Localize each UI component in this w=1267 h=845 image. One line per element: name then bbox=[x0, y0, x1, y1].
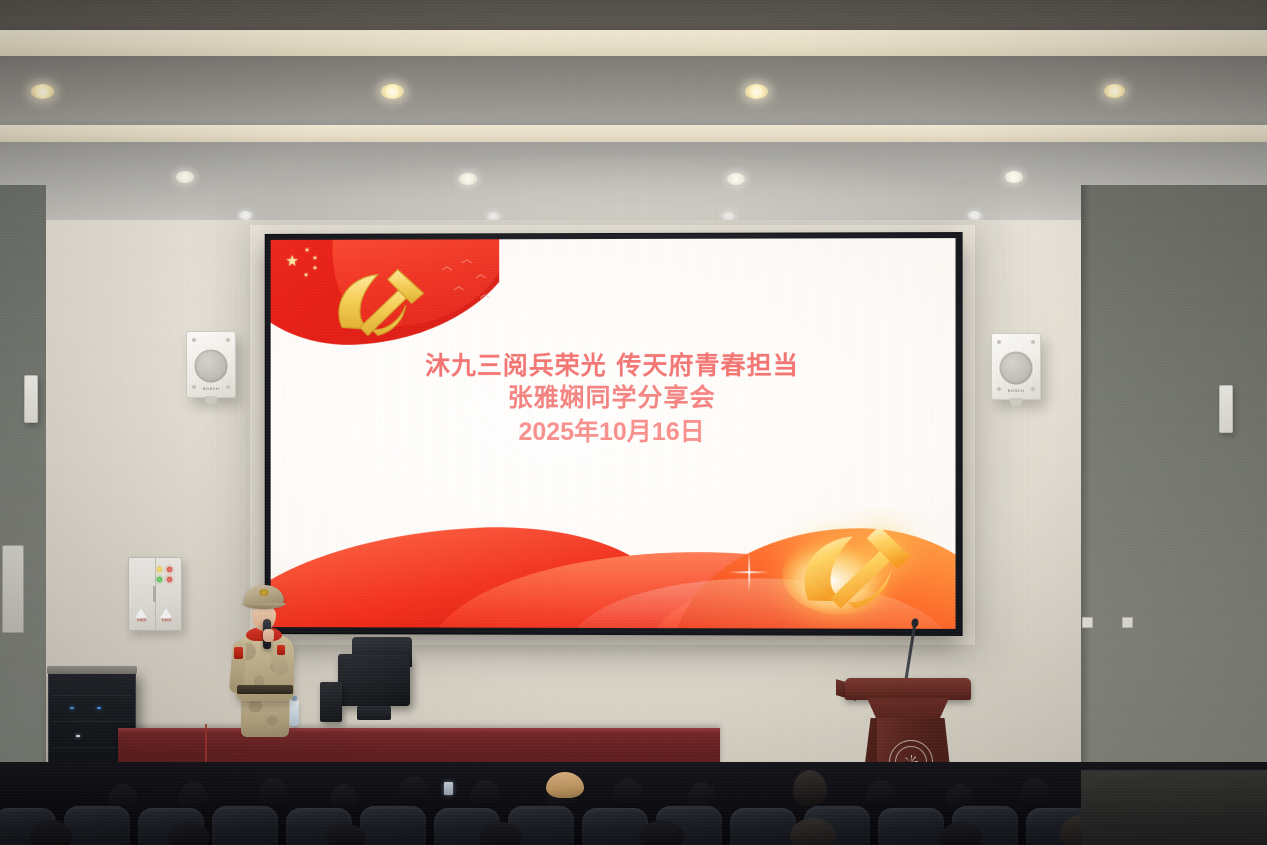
glowing-hammer-sickle-icon bbox=[778, 512, 929, 621]
wall-outlet bbox=[1122, 617, 1133, 628]
left-wall-panel bbox=[0, 185, 46, 785]
auditorium-photo: ★ ★ ★ ★ ★ bbox=[0, 0, 1267, 845]
downlight-icon bbox=[31, 84, 54, 99]
electrical-control-panel[interactable]: 有电危险 有电危险 bbox=[128, 557, 182, 631]
wall-device-right bbox=[1219, 385, 1233, 433]
audience-seat bbox=[360, 806, 426, 845]
dove-icon: ︿ bbox=[441, 261, 452, 272]
hammer-sickle-emblem-icon bbox=[316, 257, 433, 343]
audience-head bbox=[793, 770, 827, 806]
audience-seat bbox=[878, 808, 944, 845]
speaker-screw bbox=[192, 338, 196, 342]
ceiling-band-upper bbox=[0, 56, 1267, 125]
downlight-icon bbox=[968, 211, 981, 220]
audience-head bbox=[613, 778, 643, 810]
speaker-brand-label: BOSCH bbox=[1008, 388, 1024, 393]
speaker-driver bbox=[1000, 351, 1033, 384]
audience-head-with-hat bbox=[546, 772, 584, 798]
dove-icon: ︿ bbox=[453, 281, 464, 292]
flag-star-icon: ★ bbox=[304, 248, 309, 254]
presenter-shoulder-patch bbox=[277, 645, 285, 655]
hazard-label: 有电危险 bbox=[135, 618, 148, 622]
right-wall-panel bbox=[1081, 185, 1267, 845]
wall-access-box bbox=[2, 545, 24, 633]
audience-head bbox=[470, 780, 500, 810]
ceiling-beam-upper bbox=[0, 30, 1267, 56]
speaker-screw bbox=[1031, 387, 1035, 391]
rack-top-cover bbox=[47, 666, 137, 674]
slide-ribbon-graphic bbox=[271, 508, 956, 629]
downlight-icon bbox=[1005, 171, 1023, 183]
indicator-lamp-red bbox=[167, 577, 172, 582]
monitor-stand bbox=[357, 706, 391, 720]
podium-neck bbox=[867, 698, 949, 720]
ceiling-upper-dark bbox=[0, 0, 1267, 30]
wall-device-left bbox=[24, 375, 38, 423]
rack-status-led bbox=[76, 735, 80, 737]
audience-head bbox=[1020, 778, 1050, 810]
speaker-driver bbox=[195, 349, 228, 382]
desktop-monitor[interactable] bbox=[338, 654, 410, 706]
hazard-label: 有电危险 bbox=[160, 618, 173, 622]
audience-seat bbox=[730, 808, 796, 845]
indicator-lamp-green bbox=[157, 577, 162, 582]
downlight-icon bbox=[239, 211, 252, 220]
helmet-badge-icon bbox=[260, 589, 269, 596]
audience-seat bbox=[212, 806, 278, 845]
downlight-icon bbox=[745, 84, 768, 99]
slide-subtitle: 张雅娴同学分享会 bbox=[271, 381, 956, 414]
speaker-bracket bbox=[1010, 398, 1022, 406]
speaker-screw bbox=[226, 385, 230, 389]
dove-icon: ︿ bbox=[461, 254, 472, 265]
speaker-screw bbox=[1031, 340, 1035, 344]
slide-text-block: 沐九三阅兵荣光 传天府青春担当 张雅娴同学分享会 2025年10月16日 bbox=[271, 351, 956, 451]
podium-top-surface bbox=[845, 678, 971, 700]
warning-triangle-icon bbox=[160, 608, 172, 618]
right-wall-panel-edge bbox=[1081, 185, 1091, 845]
indicator-lamp-yellow bbox=[157, 567, 162, 572]
speaker-brand-label: BOSCH bbox=[203, 386, 219, 391]
sparkle-icon bbox=[729, 552, 769, 592]
flag-star-icon: ★ bbox=[303, 273, 308, 279]
slide-surface: ★ ★ ★ ★ ★ bbox=[271, 238, 956, 629]
speaker-screw bbox=[192, 385, 196, 389]
warning-triangle-icon bbox=[135, 608, 147, 618]
audience-area bbox=[0, 762, 1267, 845]
speaker-screw bbox=[997, 340, 1001, 344]
presenter-hand bbox=[263, 629, 274, 642]
speaker-screw bbox=[226, 338, 230, 342]
rack-status-led bbox=[70, 707, 74, 709]
rack-slot bbox=[53, 695, 131, 696]
wall-speaker-left: BOSCH bbox=[186, 331, 236, 398]
speaker-bracket bbox=[205, 396, 217, 404]
ceiling-beam-lower bbox=[0, 125, 1267, 142]
downlight-icon bbox=[1104, 84, 1125, 98]
wall-speaker-right: BOSCH bbox=[991, 333, 1041, 400]
slide-date: 2025年10月16日 bbox=[271, 414, 956, 450]
audience-head bbox=[866, 780, 896, 810]
hazard-warning-icon: 有电危险 bbox=[160, 608, 173, 620]
presenter-shoulder-patch bbox=[234, 647, 243, 659]
audience-head bbox=[398, 776, 430, 808]
downlight-icon bbox=[727, 173, 745, 185]
indicator-lamp-red bbox=[167, 567, 172, 572]
panel-handle[interactable] bbox=[153, 586, 156, 602]
pc-tower[interactable] bbox=[320, 682, 342, 722]
downlight-icon bbox=[176, 171, 194, 183]
dove-icon: ︿ bbox=[475, 269, 486, 280]
audience-seat bbox=[582, 808, 648, 845]
led-display-screen[interactable]: ★ ★ ★ ★ ★ bbox=[266, 233, 962, 635]
wall-outlet bbox=[1082, 617, 1093, 628]
downlight-icon bbox=[459, 173, 477, 185]
audience-phone-screen bbox=[444, 782, 453, 795]
presenter-student bbox=[230, 585, 300, 735]
rack-slot bbox=[53, 721, 131, 722]
presenter-belt bbox=[237, 685, 293, 694]
speaker-screw bbox=[997, 387, 1001, 391]
audience-seat bbox=[64, 806, 130, 845]
helmet-brim bbox=[242, 603, 286, 609]
dove-icon: ︿ bbox=[479, 289, 490, 300]
slide-headline: 沐九三阅兵荣光 传天府青春担当 bbox=[271, 351, 956, 382]
rack-status-led bbox=[97, 707, 101, 709]
party-flag-graphic: ★ ★ ★ ★ ★ bbox=[271, 239, 500, 367]
flag-star-icon: ★ bbox=[286, 254, 299, 269]
right-floor-strip bbox=[1081, 770, 1267, 845]
downlight-icon bbox=[381, 84, 404, 99]
hazard-warning-icon: 有电危险 bbox=[135, 608, 148, 620]
